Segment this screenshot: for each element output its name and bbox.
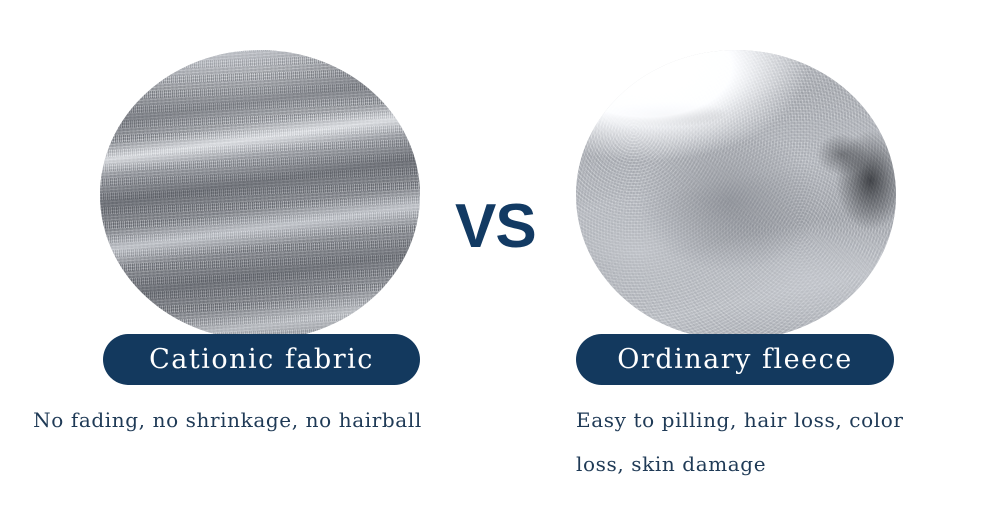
badge-cationic-fabric-label: Cationic fabric xyxy=(149,344,374,375)
badge-ordinary-fleece-label: Ordinary fleece xyxy=(617,344,852,375)
caption-ordinary-fleece-line-2: loss, skin damage xyxy=(576,442,976,486)
caption-ordinary-fleece: Easy to pilling, hair loss, color loss, … xyxy=(576,398,976,486)
badge-cationic-fabric: Cationic fabric xyxy=(103,334,420,385)
cationic-fabric-photo xyxy=(100,50,420,340)
ordinary-fleece-texture xyxy=(576,50,896,340)
fabric-comparison-banner: Cationic fabric No fading, no shrinkage,… xyxy=(0,0,990,526)
vs-separator-label: VS xyxy=(455,196,535,258)
cationic-fabric-texture xyxy=(100,50,420,340)
ordinary-fleece-photo xyxy=(576,50,896,340)
comparison-panel-right: Ordinary fleece Easy to pilling, hair lo… xyxy=(535,0,990,526)
badge-ordinary-fleece: Ordinary fleece xyxy=(576,334,894,385)
comparison-panel-left: Cationic fabric No fading, no shrinkage,… xyxy=(0,0,455,526)
caption-ordinary-fleece-line-1: Easy to pilling, hair loss, color xyxy=(576,398,976,442)
caption-cationic-fabric: No fading, no shrinkage, no hairball xyxy=(0,398,455,442)
